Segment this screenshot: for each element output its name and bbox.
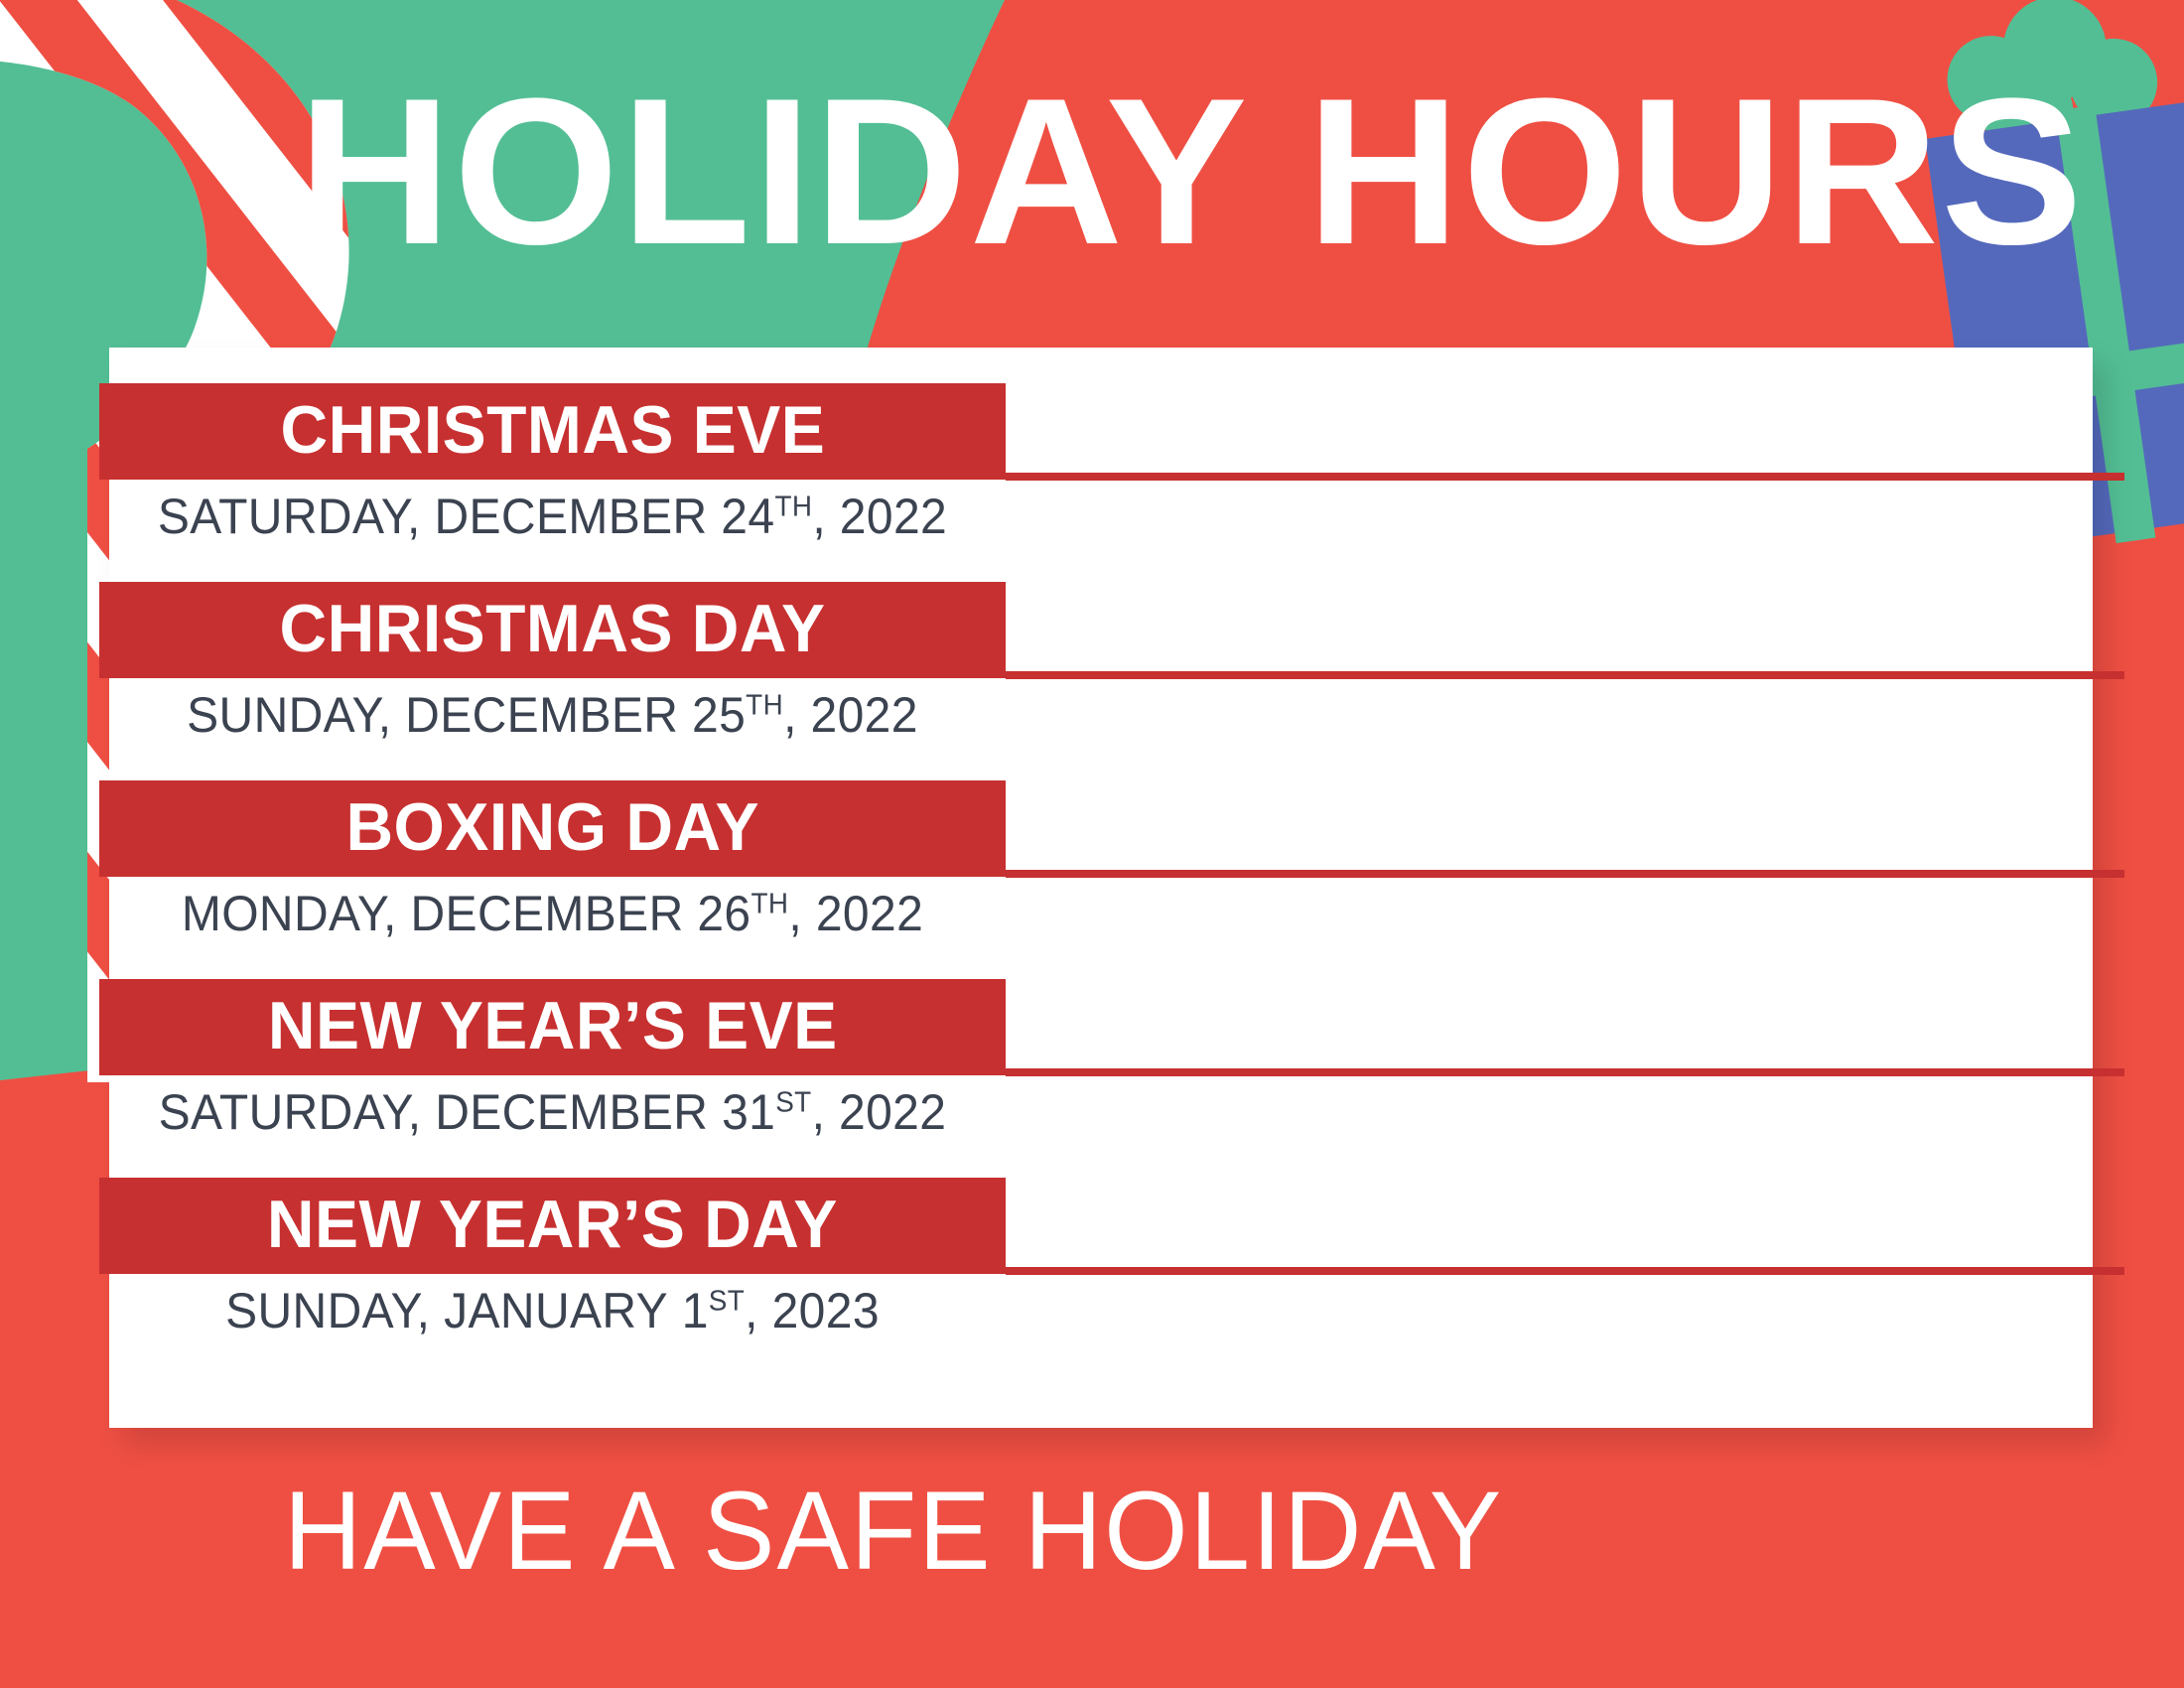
holiday-date-ordinal: TH xyxy=(751,888,789,919)
hours-write-in-rule[interactable] xyxy=(1006,1267,2124,1275)
hours-write-in-rule[interactable] xyxy=(1006,671,2124,679)
holiday-date-month: DECEMBER xyxy=(411,886,684,941)
hours-write-in-rule[interactable] xyxy=(1006,1068,2124,1076)
schedule-row: NEW YEAR’S DAY SUNDAY, JANUARY 1ST, 2023 xyxy=(109,1178,2093,1354)
holiday-date-ordinal: ST xyxy=(709,1285,745,1317)
holiday-date: SUNDAY, JANUARY 1ST, 2023 xyxy=(117,1280,987,1341)
holiday-date-day: 25 xyxy=(692,687,746,743)
holiday-date-month: DECEMBER xyxy=(405,687,678,743)
holiday-date-comma2: , xyxy=(812,1084,839,1140)
holiday-date-ordinal: TH xyxy=(746,689,783,721)
holiday-date-weekday: MONDAY xyxy=(182,886,383,941)
holiday-date-year: 2022 xyxy=(839,1084,946,1140)
holiday-date-month: JANUARY xyxy=(444,1283,668,1338)
schedule-row: NEW YEAR’S EVE SATURDAY, DECEMBER 31ST, … xyxy=(109,979,2093,1156)
holiday-date-year: 2022 xyxy=(811,687,918,743)
holiday-date-month: DECEMBER xyxy=(435,1084,708,1140)
holiday-date-day: 1 xyxy=(682,1283,709,1338)
schedule-row: CHRISTMAS EVE SATURDAY, DECEMBER 24TH, 2… xyxy=(109,383,2093,560)
holiday-date-weekday: SUNDAY xyxy=(225,1283,417,1338)
schedule-row: BOXING DAY MONDAY, DECEMBER 26TH, 2022 xyxy=(109,780,2093,957)
schedule-row: CHRISTMAS DAY SUNDAY, DECEMBER 25TH, 202… xyxy=(109,582,2093,759)
holiday-name: CHRISTMAS DAY xyxy=(280,595,826,662)
schedule-card: CHRISTMAS EVE SATURDAY, DECEMBER 24TH, 2… xyxy=(109,348,2093,1428)
holiday-date-day: 31 xyxy=(722,1084,775,1140)
holiday-name: NEW YEAR’S DAY xyxy=(267,1191,838,1258)
holiday-name: CHRISTMAS EVE xyxy=(280,396,825,464)
holiday-date-weekday: SATURDAY xyxy=(159,1084,408,1140)
holiday-label-bar: BOXING DAY xyxy=(99,780,1006,877)
holiday-date-comma1: , xyxy=(378,687,405,743)
page-title: HOLIDAY HOURS xyxy=(298,77,1979,266)
holiday-date-month: DECEMBER xyxy=(434,489,707,544)
holiday-date: MONDAY, DECEMBER 26TH, 2022 xyxy=(117,883,987,944)
holiday-date-comma2: , xyxy=(788,886,815,941)
holiday-date-day: 24 xyxy=(721,489,774,544)
footer-message: HAVE A SAFE HOLIDAY xyxy=(27,1468,1760,1595)
holiday-name: BOXING DAY xyxy=(345,793,759,861)
holiday-date-year: 2023 xyxy=(772,1283,880,1338)
holiday-label-bar: CHRISTMAS DAY xyxy=(99,582,1006,678)
holiday-date-comma1: , xyxy=(407,489,434,544)
schedule-rows: CHRISTMAS EVE SATURDAY, DECEMBER 24TH, 2… xyxy=(109,348,2093,1428)
holiday-label-bar: NEW YEAR’S DAY xyxy=(99,1178,1006,1274)
holiday-date: SATURDAY, DECEMBER 31ST, 2022 xyxy=(117,1081,987,1143)
holiday-date-comma1: , xyxy=(408,1084,435,1140)
holiday-date-year: 2022 xyxy=(816,886,923,941)
hours-write-in-rule[interactable] xyxy=(1006,870,2124,878)
holiday-date-comma2: , xyxy=(745,1283,771,1338)
holiday-date-weekday: SUNDAY xyxy=(187,687,378,743)
holiday-date-ordinal: TH xyxy=(774,491,812,522)
holiday-date-comma2: , xyxy=(783,687,810,743)
holiday-date-comma1: , xyxy=(417,1283,444,1338)
holiday-hours-poster: HOLIDAY HOURS CHRISTMAS EVE SATURDAY, DE… xyxy=(0,0,2184,1688)
hours-write-in-rule[interactable] xyxy=(1006,473,2124,481)
holiday-label-bar: NEW YEAR’S EVE xyxy=(99,979,1006,1075)
holiday-label-bar: CHRISTMAS EVE xyxy=(99,383,1006,480)
holiday-date-weekday: SATURDAY xyxy=(158,489,407,544)
holiday-date: SATURDAY, DECEMBER 24TH, 2022 xyxy=(117,486,987,547)
holiday-date-ordinal: ST xyxy=(775,1086,811,1118)
holiday-date: SUNDAY, DECEMBER 25TH, 2022 xyxy=(117,684,987,746)
holiday-date-comma1: , xyxy=(383,886,410,941)
holiday-name: NEW YEAR’S EVE xyxy=(268,992,838,1059)
holiday-date-year: 2022 xyxy=(840,489,947,544)
holiday-date-comma2: , xyxy=(812,489,839,544)
holiday-date-day: 26 xyxy=(697,886,751,941)
